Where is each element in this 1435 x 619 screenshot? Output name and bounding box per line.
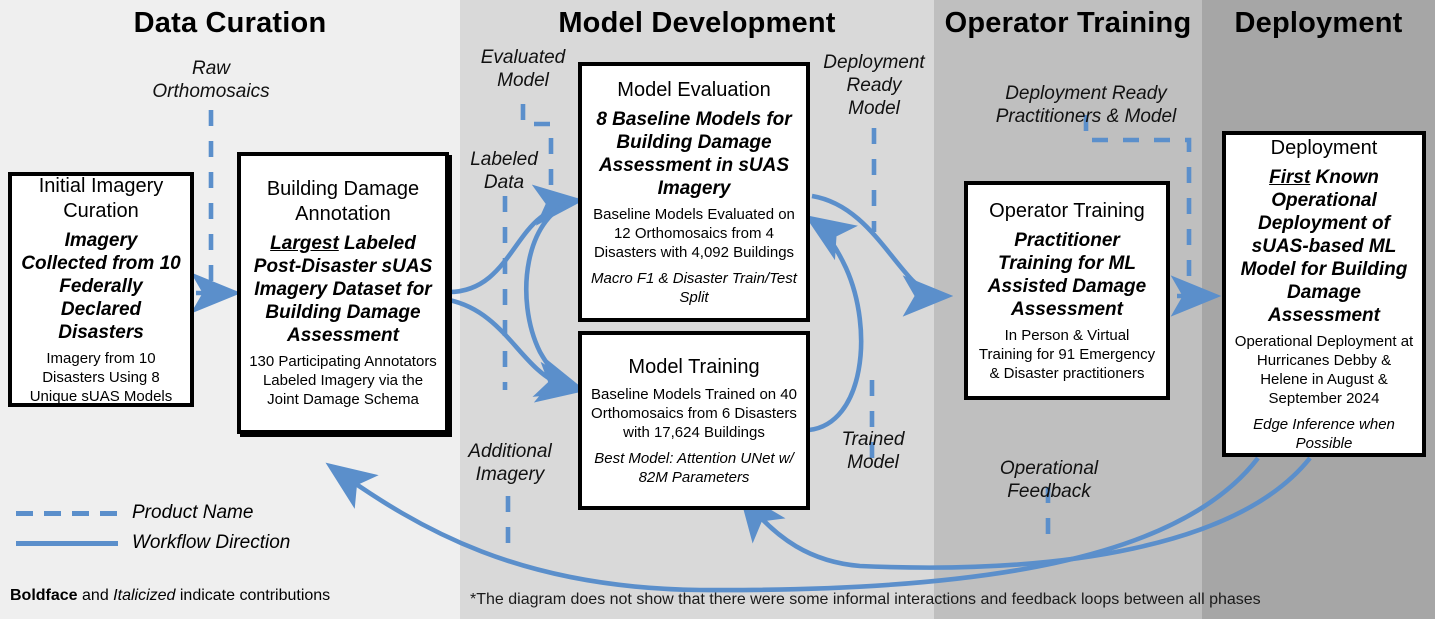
node-title: Operator Training (976, 199, 1158, 224)
node-title: Model Training (590, 355, 798, 380)
arrow-evaluation-loop-to-training (526, 200, 578, 389)
legend-note-italicized: Italicized (113, 587, 175, 604)
node-building-damage-annotation[interactable]: Building Damage Annotation Largest Label… (237, 152, 449, 434)
legend: Product Name Workflow Direction (14, 498, 344, 558)
node-highlight: First Known Operational Deployment of sU… (1234, 166, 1414, 327)
label-operational-feedback: Operational Feedback (986, 457, 1112, 503)
label-additional-imagery: Additional Imagery (447, 440, 573, 486)
node-highlight: Practitioner Training for ML Assisted Da… (976, 229, 1158, 321)
arrow-annotation-to-model-evaluation (449, 201, 575, 292)
node-detail: 130 Participating Annotators Labeled Ima… (249, 352, 437, 409)
solid-line-icon (14, 532, 122, 554)
node-title: Model Evaluation (590, 78, 798, 103)
node-title: Deployment (1234, 136, 1414, 161)
legend-label-workflow-direction: Workflow Direction (122, 532, 290, 554)
legend-contribution-note: Boldface and Italicized indicate contrib… (10, 586, 330, 606)
node-model-training[interactable]: Model Training Baseline Models Trained o… (578, 331, 810, 510)
label-deployment-ready-model: Deployment Ready Model (812, 51, 936, 120)
label-raw-orthomosaics: Raw Orthomosaics (141, 57, 281, 103)
node-title: Initial Imagery Curation (20, 174, 182, 224)
label-trained-model: Trained Model (812, 428, 934, 474)
node-note: Edge Inference when Possible (1234, 415, 1414, 453)
node-highlight-underlined: First (1269, 167, 1310, 188)
diagram-canvas: Data Curation Model Development Operator… (0, 0, 1435, 619)
node-initial-imagery-curation[interactable]: Initial Imagery Curation Imagery Collect… (8, 172, 194, 407)
node-detail: Imagery from 10 Disasters Using 8 Unique… (20, 349, 182, 406)
node-highlight: Largest Labeled Post-Disaster sUAS Image… (249, 232, 437, 347)
node-highlight: 8 Baseline Models for Building Damage As… (590, 108, 798, 200)
legend-label-product-name: Product Name (122, 502, 253, 524)
node-deployment[interactable]: Deployment First Known Operational Deplo… (1222, 131, 1426, 457)
node-highlight-rest: Known Operational Deployment of sUAS-bas… (1241, 167, 1408, 326)
legend-note-tail: indicate contributions (175, 587, 330, 604)
label-deployment-ready-practitioners: Deployment Ready Practitioners & Model (955, 82, 1217, 128)
node-note: Best Model: Attention UNet w/ 82M Parame… (590, 449, 798, 487)
node-note: Macro F1 & Disaster Train/Test Split (590, 269, 798, 307)
node-detail: Operational Deployment at Hurricanes Deb… (1234, 332, 1414, 408)
node-highlight-underlined: Largest (270, 233, 339, 254)
legend-note-and: and (78, 587, 114, 604)
diagram-footnote: *The diagram does not show that there we… (470, 590, 1430, 610)
node-highlight: Imagery Collected from 10 Federally Decl… (20, 229, 182, 344)
legend-row-workflow-direction: Workflow Direction (14, 528, 344, 558)
node-operator-training[interactable]: Operator Training Practitioner Training … (964, 181, 1170, 400)
node-title: Building Damage Annotation (249, 177, 437, 227)
label-labeled-data: Labeled Data (443, 148, 565, 194)
legend-row-product-name: Product Name (14, 498, 344, 528)
node-detail: Baseline Models Trained on 40 Orthomosai… (590, 385, 798, 442)
node-detail: Baseline Models Evaluated on 12 Orthomos… (590, 205, 798, 262)
node-model-evaluation[interactable]: Model Evaluation 8 Baseline Models for B… (578, 62, 810, 322)
dashed-line-icon (14, 502, 122, 524)
arrow-training-to-evaluation (809, 220, 861, 430)
label-evaluated-model: Evaluated Model (462, 46, 584, 92)
legend-note-boldface: Boldface (10, 587, 78, 604)
node-detail: In Person & Virtual Training for 91 Emer… (976, 326, 1158, 383)
